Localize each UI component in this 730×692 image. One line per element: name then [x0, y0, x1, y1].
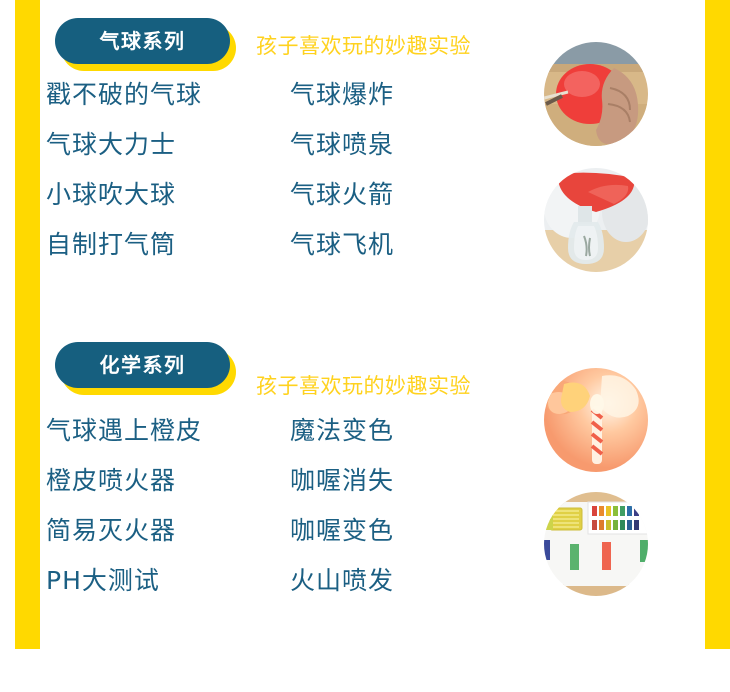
list-item[interactable]: 火山喷发 — [290, 568, 394, 600]
badge-pill: 化学系列 — [55, 342, 230, 388]
list-item[interactable]: 自制打气筒 — [46, 232, 176, 264]
badge-pill: 气球系列 — [55, 18, 230, 64]
list-item[interactable]: 气球飞机 — [290, 232, 394, 264]
list-item[interactable]: 咖喔变色 — [290, 518, 394, 550]
section-badge-chemistry: 化学系列 — [55, 342, 230, 388]
list-item[interactable]: PH大测试 — [46, 568, 160, 600]
frame-band-right — [705, 0, 730, 649]
list-item[interactable]: 气球爆炸 — [290, 82, 394, 114]
item-column-left: 气球遇上橙皮 橙皮喷火器 简易灭火器 PH大测试 — [46, 418, 290, 618]
list-item[interactable]: 咖喔消失 — [290, 468, 394, 500]
frame-band-left — [15, 0, 40, 649]
photo-orange-peel-flame — [544, 368, 648, 472]
item-column-left: 戳不破的气球 气球大力士 小球吹大球 自制打气筒 — [46, 82, 290, 282]
section-subtitle-balloon: 孩子喜欢玩的妙趣实验 — [256, 30, 471, 60]
section-subtitle-chemistry: 孩子喜欢玩的妙趣实验 — [256, 370, 471, 400]
list-item[interactable]: 小球吹大球 — [46, 182, 176, 214]
item-list-chemistry: 气球遇上橙皮 橙皮喷火器 简易灭火器 PH大测试 — [46, 418, 490, 618]
section-card-balloon: 气球系列 孩子喜欢玩的妙趣实验 戳不破的气球 气球大力士 小球吹大球 — [40, 0, 705, 306]
badge-label: 化学系列 — [100, 355, 186, 375]
card-stack: 气球系列 孩子喜欢玩的妙趣实验 戳不破的气球 气球大力士 小球吹大球 — [40, 0, 705, 649]
photo-balloon-needle — [544, 42, 648, 146]
badge-label: 气球系列 — [100, 31, 186, 51]
section-card-chemistry: 化学系列 孩子喜欢玩的妙趣实验 气球遇上橙皮 橙皮喷火器 简易灭火器 — [40, 320, 705, 618]
section-card-next — [40, 632, 705, 692]
item-list-balloon: 戳不破的气球 气球大力士 小球吹大球 自制打气筒 — [46, 82, 490, 282]
list-item[interactable]: 橙皮喷火器 — [46, 468, 176, 500]
item-column-right: 魔法变色 咖喔消失 咖喔变色 火山喷发 — [290, 418, 490, 618]
page-background: 气球系列 孩子喜欢玩的妙趣实验 戳不破的气球 气球大力士 小球吹大球 — [0, 0, 730, 649]
photo-balloon-bottle — [544, 168, 648, 272]
section-badge-balloon: 气球系列 — [55, 18, 230, 64]
item-column-right: 气球爆炸 气球喷泉 气球火箭 气球飞机 — [290, 82, 490, 282]
list-item[interactable]: 气球火箭 — [290, 182, 394, 214]
list-item[interactable]: 气球喷泉 — [290, 132, 394, 164]
photo-ph-test-strips — [544, 492, 648, 596]
list-item[interactable]: 魔法变色 — [290, 418, 394, 450]
list-item[interactable]: 戳不破的气球 — [46, 82, 202, 114]
list-item[interactable]: 气球大力士 — [46, 132, 176, 164]
list-item[interactable]: 简易灭火器 — [46, 518, 176, 550]
list-item[interactable]: 气球遇上橙皮 — [46, 418, 202, 450]
